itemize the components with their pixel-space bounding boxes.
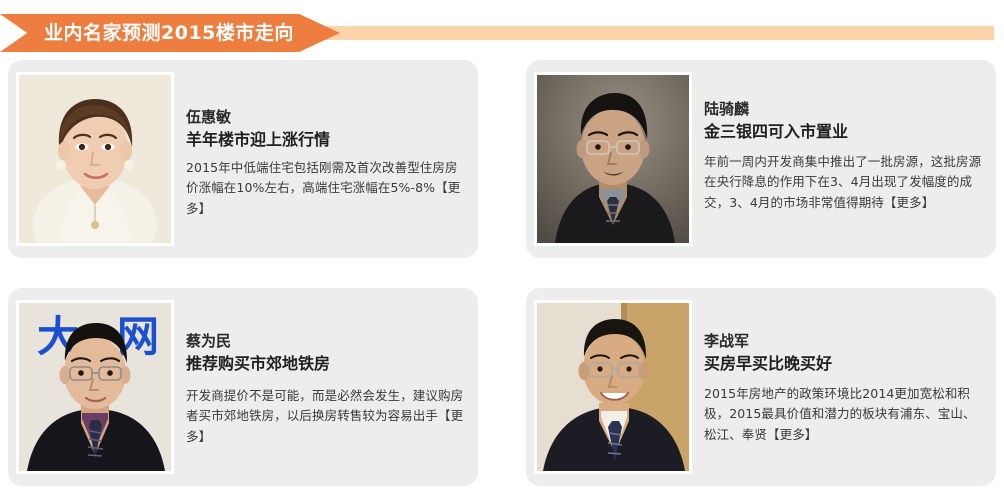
expert-photo-frame: 大 网: [16, 300, 174, 474]
portrait-illustration: [537, 303, 689, 471]
expert-card[interactable]: 大 网: [8, 288, 478, 486]
expert-headline: 买房早买比晚买好: [704, 354, 832, 375]
expert-summary[interactable]: 2015年房地产的政策环境比2014更加宽松和积极，2015最具价值和潜力的板块…: [704, 384, 982, 445]
expert-name: 李战军: [704, 332, 749, 351]
portrait-illustration: 大 网: [19, 303, 171, 471]
portrait-illustration: [19, 75, 171, 243]
expert-headline: 推荐购买市郊地铁房: [186, 354, 330, 375]
expert-headline: 羊年楼市迎上涨行情: [186, 130, 330, 151]
expert-photo-frame: [534, 300, 692, 474]
portrait-illustration: [537, 75, 689, 243]
page-banner: 业内名家预测2015楼市走向: [0, 14, 1004, 52]
banner-tail-bar: [310, 26, 994, 40]
expert-name: 陆骑麟: [704, 100, 749, 119]
expert-photo: 大 网: [19, 303, 171, 471]
expert-photo: [537, 303, 689, 471]
expert-card-text: 陆骑麟 金三银四可入市置业 年前一周内开发商集中推出了一批房源，这批房源在央行降…: [704, 60, 986, 258]
expert-summary[interactable]: 年前一周内开发商集中推出了一批房源，这批房源在央行降息的作用下在3、4月出现了发…: [704, 152, 982, 213]
expert-card[interactable]: 李战军 买房早买比晚买好 2015年房地产的政策环境比2014更加宽松和积极，2…: [526, 288, 996, 486]
expert-card-grid: 伍惠敏 羊年楼市迎上涨行情 2015年中低端住宅包括刚需及首次改善型住房房价涨幅…: [8, 60, 996, 486]
expert-photo-frame: [534, 72, 692, 246]
expert-card-text: 伍惠敏 羊年楼市迎上涨行情 2015年中低端住宅包括刚需及首次改善型住房房价涨幅…: [186, 60, 468, 258]
expert-headline: 金三银四可入市置业: [704, 122, 848, 143]
expert-card[interactable]: 伍惠敏 羊年楼市迎上涨行情 2015年中低端住宅包括刚需及首次改善型住房房价涨幅…: [8, 60, 478, 258]
expert-summary[interactable]: 开发商提价不是可能，而是必然会发生，建议购房者买市郊地铁房，以后换房转售较为容易…: [186, 386, 464, 447]
expert-card-text: 蔡为民 推荐购买市郊地铁房 开发商提价不是可能，而是必然会发生，建议购房者买市郊…: [186, 288, 468, 486]
expert-photo-frame: [16, 72, 174, 246]
expert-name: 蔡为民: [186, 332, 231, 351]
expert-photo: [537, 75, 689, 243]
expert-card-text: 李战军 买房早买比晚买好 2015年房地产的政策环境比2014更加宽松和积极，2…: [704, 288, 986, 486]
expert-card[interactable]: 陆骑麟 金三银四可入市置业 年前一周内开发商集中推出了一批房源，这批房源在央行降…: [526, 60, 996, 258]
expert-name: 伍惠敏: [186, 108, 231, 127]
page-title: 业内名家预测2015楼市走向: [44, 14, 294, 52]
expert-photo: [19, 75, 171, 243]
expert-summary[interactable]: 2015年中低端住宅包括刚需及首次改善型住房房价涨幅在10%左右，高端住宅涨幅在…: [186, 158, 464, 219]
